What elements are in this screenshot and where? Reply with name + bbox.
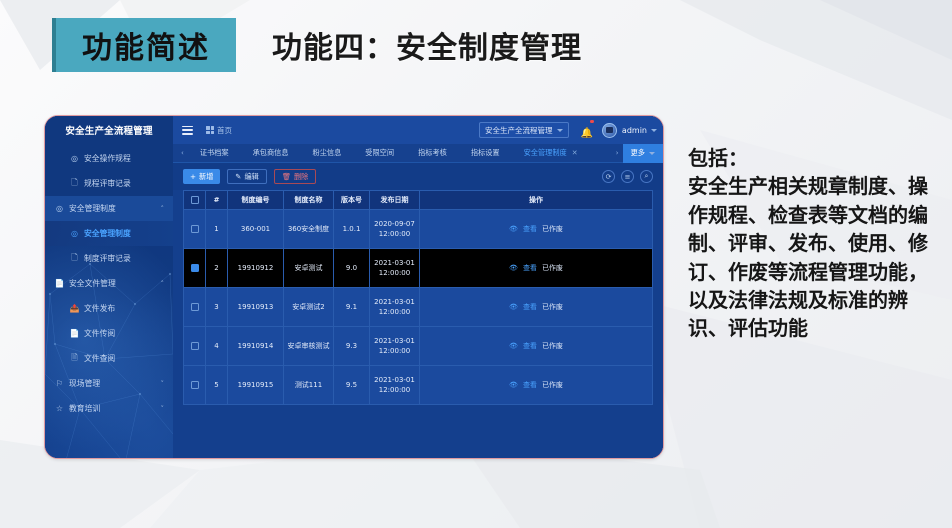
cell-version: 9.5 (334, 366, 370, 405)
table-row[interactable]: 2 19910912 安卓测试 9.0 2021-03-01 12:00:00 … (184, 249, 653, 288)
flag-icon: ⚐ (54, 379, 65, 388)
cell-code: 19910914 (228, 327, 284, 366)
cell-index: 1 (206, 210, 228, 249)
sidebar-menu: ◎ 安全操作规程 🗋 规程评审记录 ◎ 安全管理制度 ˄ (45, 146, 173, 421)
close-icon[interactable]: ✕ (572, 149, 578, 157)
eye-icon: 👁 (509, 302, 518, 312)
eye-icon: 👁 (509, 263, 518, 273)
cell-name: 安卓测试2 (284, 288, 334, 327)
pencil-icon: ✎ (235, 172, 241, 181)
sidebar-item-safety-operating-procedure[interactable]: ◎ 安全操作规程 (45, 146, 173, 171)
section-badge: 功能简述 (56, 18, 236, 72)
row-select-cell[interactable] (184, 366, 206, 405)
edit-button[interactable]: ✎ 编辑 (227, 169, 266, 184)
chevron-up-icon: ˄ (161, 205, 165, 213)
sidebar-item-document-lookup[interactable]: 🗎 文件查阅 (45, 346, 173, 371)
row-select-cell[interactable] (184, 327, 206, 366)
eye-icon: 👁 (509, 224, 518, 234)
add-button[interactable]: + 新增 (183, 169, 220, 184)
tabs-more-button[interactable]: 更多 (623, 144, 663, 163)
plus-icon: + (190, 172, 196, 181)
sidebar-item-document-circulation[interactable]: 📄 文件传阅 (45, 321, 173, 346)
tab-contractor-info[interactable]: 承包商信息 (241, 148, 301, 158)
search-icon: ⌕ (645, 172, 649, 181)
project-select-value: 安全生产全流程管理 (485, 125, 553, 136)
columns-icon: ≡ (625, 173, 631, 181)
data-table-container[interactable]: # 制度编号 制度名称 版本号 发布日期 操作 1 (173, 190, 663, 458)
sidebar-item-label: 现场管理 (69, 378, 100, 389)
feature-description: 包括： 安全生产相关规章制度、操作规程、检查表等文档的编制、评审、发布、使用、修… (688, 144, 940, 343)
cell-version: 9.0 (334, 249, 370, 288)
cell-operations: 👁 查看 已作废 (420, 288, 653, 327)
cell-index: 3 (206, 288, 228, 327)
row-select-cell[interactable] (184, 210, 206, 249)
sidebar-group-site-management[interactable]: ⚐ 现场管理 ˅ (45, 371, 173, 396)
description-lead: 包括： (688, 144, 940, 172)
sidebar-item-label: 教育培训 (69, 403, 100, 414)
data-table: # 制度编号 制度名称 版本号 发布日期 操作 1 (183, 190, 653, 405)
app-logo-text: 安全生产全流程管理 (65, 123, 152, 137)
eye-icon: 👁 (509, 341, 518, 351)
cell-operations: 👁 查看 已作废 (420, 327, 653, 366)
chevron-down-icon (557, 129, 563, 132)
home-label: 首页 (217, 125, 232, 136)
table-toolbar: + 新增 ✎ 编辑 🗑 删除 ⟳ (173, 163, 663, 190)
trash-icon: 🗑 (282, 172, 291, 181)
cell-code: 19910912 (228, 249, 284, 288)
select-all-checkbox[interactable] (191, 196, 199, 204)
cell-index: 2 (206, 249, 228, 288)
column-operations: 操作 (420, 191, 653, 210)
app-logo: 安全生产全流程管理 (45, 116, 173, 144)
sidebar-item-label: 安全文件管理 (69, 278, 116, 289)
row-checkbox[interactable] (191, 381, 199, 389)
cell-date: 2021-03-01 12:00:00 (370, 366, 420, 405)
delete-button-label: 删除 (294, 172, 308, 182)
description-body: 安全生产相关规章制度、操作规程、检查表等文档的编制、评审、发布、使用、修订、作废… (688, 174, 928, 340)
bell-icon: 🔔 (580, 128, 592, 139)
sidebar-item-safety-management-system[interactable]: ◎ 安全管理制度 (45, 221, 173, 246)
sidebar-item-label: 安全管理制度 (69, 203, 116, 214)
notification-dot (590, 120, 594, 124)
sidebar-item-label: 文件发布 (84, 303, 115, 314)
doc-icon: 🗋 (69, 252, 80, 266)
cell-date: 2020-09-07 12:00:00 (370, 210, 420, 249)
cell-name: 测试111 (284, 366, 334, 405)
sidebar: ◎ 安全操作规程 🗋 规程评审记录 ◎ 安全管理制度 ˄ (45, 144, 173, 458)
file-icon: 📄 (54, 279, 65, 288)
tab-dust-info[interactable]: 粉尘信息 (301, 148, 354, 158)
view-link[interactable]: 查看 (523, 224, 537, 234)
cell-operations: 👁 查看 已作废 (420, 210, 653, 249)
sidebar-item-label: 安全管理制度 (84, 228, 131, 239)
cell-version: 1.0.1 (334, 210, 370, 249)
table-row[interactable]: 5 19910915 测试111 9.5 2021-03-01 12:00:00… (184, 366, 653, 405)
sidebar-item-document-publish[interactable]: 📤 文件发布 (45, 296, 173, 321)
chevron-down-icon: ˅ (161, 380, 165, 388)
cell-date: 2021-03-01 12:00:00 (370, 288, 420, 327)
sidebar-item-procedure-review-record[interactable]: 🗋 规程评审记录 (45, 171, 173, 196)
section-badge-label: 功能简述 (82, 23, 210, 67)
cell-version: 9.1 (334, 288, 370, 327)
cell-index: 4 (206, 327, 228, 366)
column-index: # (206, 191, 228, 210)
tabs-prev-icon[interactable]: ‹ (177, 149, 188, 157)
status-badge: 已作废 (542, 263, 563, 273)
chevron-up-icon: ˄ (161, 280, 165, 288)
refresh-icon: ⟳ (606, 173, 612, 181)
file-search-icon: 🗎 (69, 352, 80, 366)
sidebar-group-safety-management-system[interactable]: ◎ 安全管理制度 ˄ (45, 196, 173, 221)
sidebar-group-safety-document-management[interactable]: 📄 安全文件管理 ˄ (45, 271, 173, 296)
project-select[interactable]: 安全生产全流程管理 (479, 122, 570, 138)
user-name: admin (622, 126, 647, 135)
row-checkbox[interactable] (191, 342, 199, 350)
cell-date: 2021-03-01 12:00:00 (370, 327, 420, 366)
table-row[interactable]: 3 19910913 安卓测试2 9.1 2021-03-01 12:00:00… (184, 288, 653, 327)
refresh-icon-button[interactable]: ⟳ (602, 170, 615, 183)
view-link[interactable]: 查看 (523, 263, 537, 273)
notification-bell[interactable]: 🔔 (580, 121, 592, 140)
view-link[interactable]: 查看 (523, 380, 537, 390)
file-share-icon: 📄 (69, 329, 80, 338)
status-badge: 已作废 (542, 341, 563, 351)
delete-button[interactable]: 🗑 删除 (274, 169, 317, 184)
row-checkbox[interactable] (191, 264, 199, 272)
row-checkbox[interactable] (191, 303, 199, 311)
sidebar-item-label: 制度评审记录 (84, 253, 131, 264)
sidebar-item-system-review-record[interactable]: 🗋 制度评审记录 (45, 246, 173, 271)
add-button-label: 新增 (199, 172, 213, 182)
user-chevron-down-icon[interactable] (651, 129, 657, 132)
tab-certificate-archive[interactable]: 证书档案 (188, 148, 241, 158)
cell-code: 360-001 (228, 210, 284, 249)
cell-version: 9.3 (334, 327, 370, 366)
row-checkbox[interactable] (191, 225, 199, 233)
row-select-cell[interactable] (184, 249, 206, 288)
cell-operations: 👁 查看 已作废 (420, 366, 653, 405)
sidebar-group-education-training[interactable]: ☆ 教育培训 ˅ (45, 396, 173, 421)
tab-bar: ‹ 证书档案 承包商信息 粉尘信息 受限空间 指标考核 指标设置 安全管理制度 … (173, 144, 663, 163)
main-content: ‹ 证书档案 承包商信息 粉尘信息 受限空间 指标考核 指标设置 安全管理制度 … (173, 144, 663, 458)
search-icon-button[interactable]: ⌕ (640, 170, 653, 183)
view-link[interactable]: 查看 (523, 302, 537, 312)
grid-icon (206, 126, 214, 134)
status-badge: 已作废 (542, 302, 563, 312)
table-header-row: # 制度编号 制度名称 版本号 发布日期 操作 (184, 191, 653, 210)
cell-name: 安卓审核测试 (284, 327, 334, 366)
check-circle-icon: ◎ (54, 204, 65, 213)
hamburger-icon[interactable] (182, 126, 193, 135)
home-breadcrumb[interactable]: 首页 (206, 125, 232, 136)
tab-indicator-settings[interactable]: 指标设置 (459, 148, 512, 158)
cell-operations: 👁 查看 已作废 (420, 249, 653, 288)
cell-code: 19910913 (228, 288, 284, 327)
row-select-cell[interactable] (184, 288, 206, 327)
status-badge: 已作废 (542, 380, 563, 390)
tabs-more-label: 更多 (631, 148, 645, 158)
slide-header: 功能简述 功能四：安全制度管理 (0, 18, 582, 72)
select-all-header[interactable] (184, 191, 206, 210)
app-topbar: 安全生产全流程管理 首页 安全生产全流程管理 🔔 admin (45, 116, 663, 144)
column-publish-date: 发布日期 (370, 191, 420, 210)
app-screenshot: 安全生产全流程管理 首页 安全生产全流程管理 🔔 admin (44, 115, 664, 459)
tab-indicator-assessment[interactable]: 指标考核 (406, 148, 459, 158)
sidebar-item-label: 规程评审记录 (84, 178, 131, 189)
sidebar-item-label: 文件传阅 (84, 328, 115, 339)
cell-name: 360安全制度 (284, 210, 334, 249)
tab-confined-space[interactable]: 受限空间 (353, 148, 406, 158)
column-code: 制度编号 (228, 191, 284, 210)
edit-button-label: 编辑 (244, 172, 258, 182)
table-row[interactable]: 4 19910914 安卓审核测试 9.3 2021-03-01 12:00:0… (184, 327, 653, 366)
doc-icon: 🗋 (69, 177, 80, 191)
cell-date: 2021-03-01 12:00:00 (370, 249, 420, 288)
column-version: 版本号 (334, 191, 370, 210)
eye-icon: 👁 (509, 380, 518, 390)
column-name: 制度名称 (284, 191, 334, 210)
page-title: 功能四：安全制度管理 (272, 18, 582, 72)
sidebar-item-label: 安全操作规程 (84, 153, 131, 164)
tab-safety-management-system[interactable]: 安全管理制度 ✕ (512, 148, 590, 158)
check-circle-icon: ◎ (69, 154, 80, 163)
cell-code: 19910915 (228, 366, 284, 405)
view-link[interactable]: 查看 (523, 341, 537, 351)
star-icon: ☆ (54, 404, 65, 413)
columns-icon-button[interactable]: ≡ (621, 170, 634, 183)
tabs-next-icon[interactable]: › (612, 149, 623, 157)
cell-index: 5 (206, 366, 228, 405)
check-circle-icon: ◎ (69, 229, 80, 238)
sidebar-item-label: 文件查阅 (84, 353, 115, 364)
tab-label: 安全管理制度 (524, 148, 567, 158)
avatar[interactable] (602, 123, 617, 138)
status-badge: 已作废 (542, 224, 563, 234)
table-row[interactable]: 1 360-001 360安全制度 1.0.1 2020-09-07 12:00… (184, 210, 653, 249)
chevron-down-icon: ˅ (161, 405, 165, 413)
file-upload-icon: 📤 (69, 304, 80, 313)
chevron-down-icon (649, 152, 655, 155)
cell-name: 安卓测试 (284, 249, 334, 288)
